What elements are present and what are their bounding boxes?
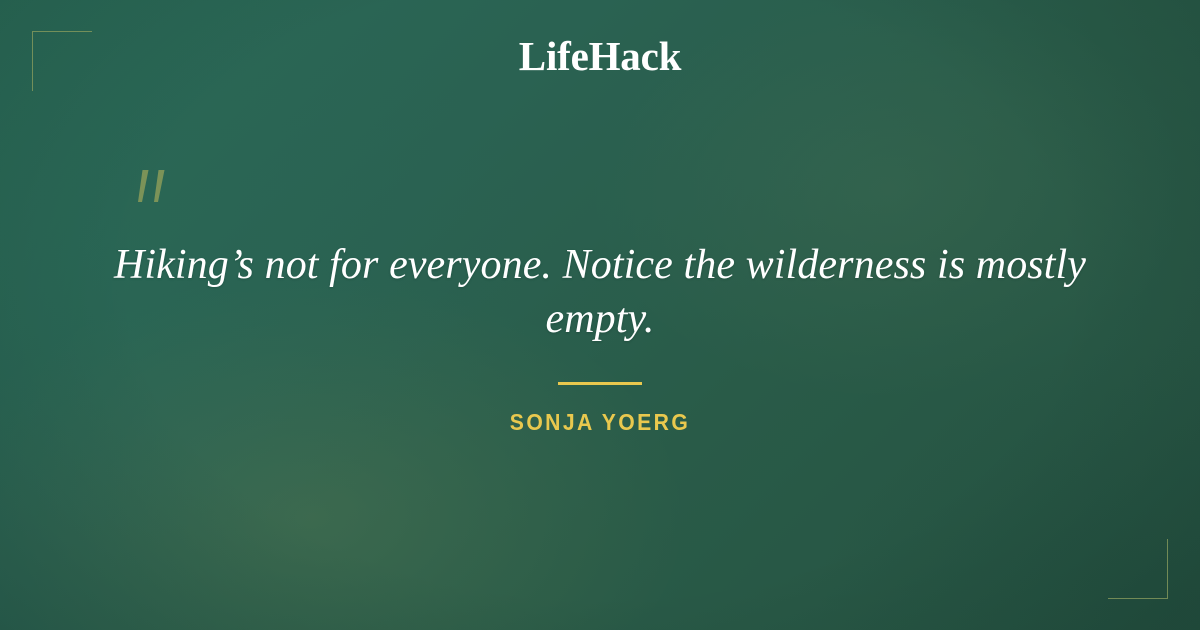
quote-author: SONJA YOERG [48, 411, 1152, 434]
quote-card: LifeHack Hiking’s not for everyone. Noti… [0, 0, 1200, 630]
corner-bracket-bottom-right-icon [1108, 539, 1168, 599]
double-quote-icon [128, 168, 180, 216]
quote-block: Hiking’s not for everyone. Notice the wi… [110, 238, 1090, 346]
brand-logo: LifeHack [0, 36, 1200, 77]
quote-divider [558, 382, 642, 385]
quote-text: Hiking’s not for everyone. Notice the wi… [110, 238, 1090, 346]
